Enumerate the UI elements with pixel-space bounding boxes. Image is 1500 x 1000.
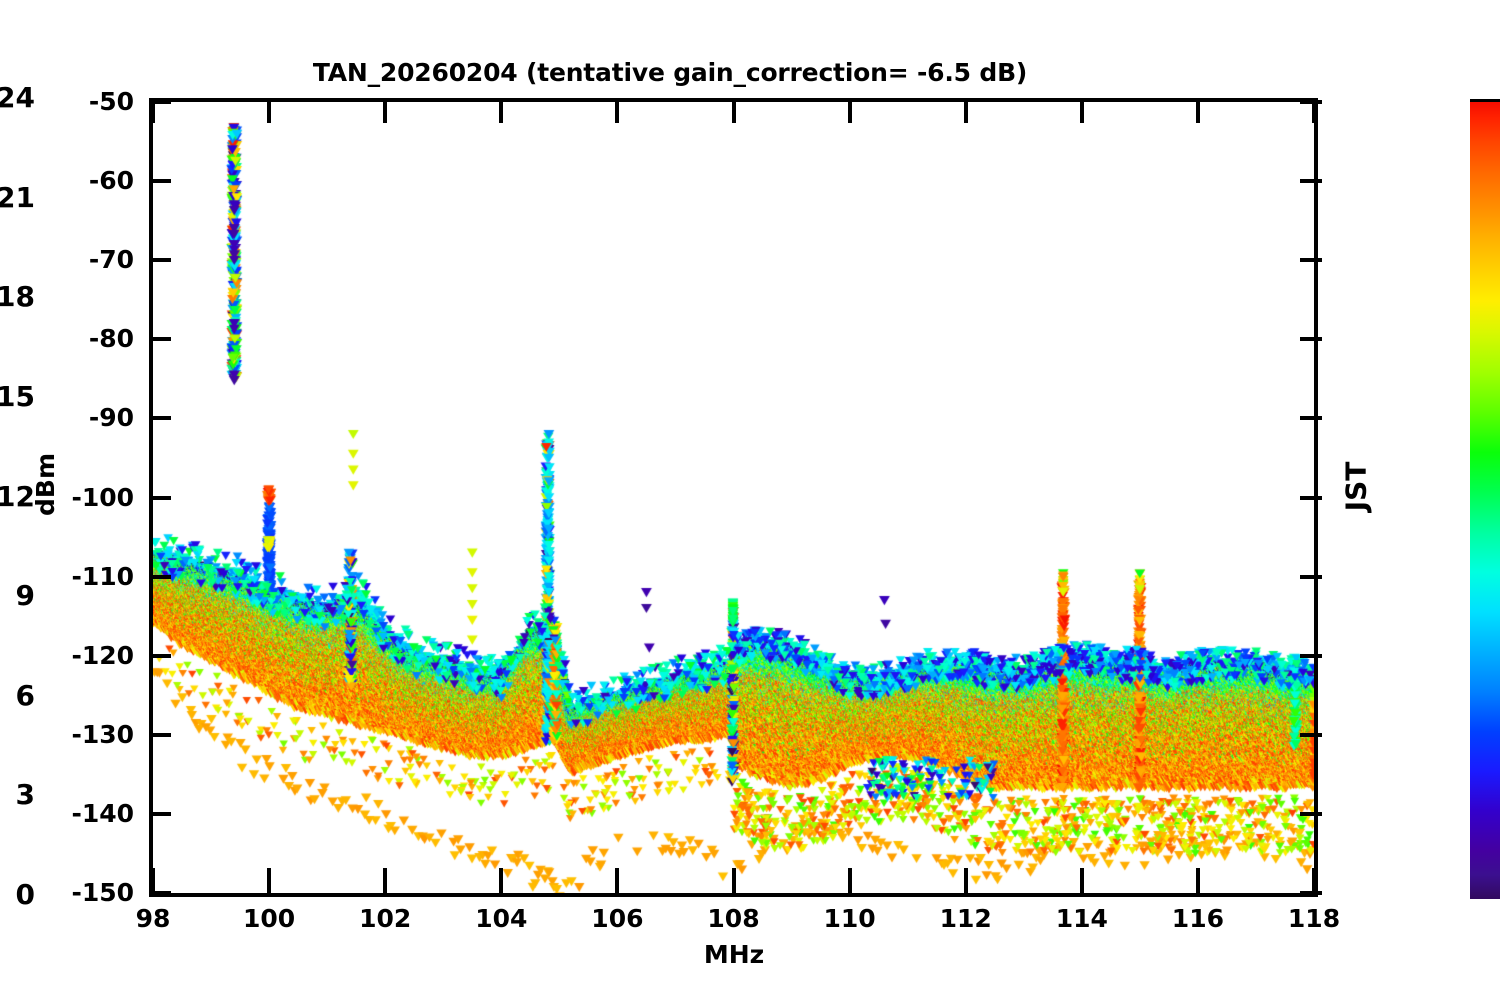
x-tick-label: 108	[674, 906, 794, 931]
x-tick-label: 116	[1138, 906, 1258, 931]
x-tick-118	[1312, 868, 1316, 893]
y-tick-neg90	[149, 416, 171, 420]
y-tick-neg80	[149, 337, 171, 341]
x-tick-112	[964, 868, 968, 893]
x-tick-110	[848, 98, 852, 123]
colorbar-tick-label: 9	[0, 582, 35, 610]
x-tick-label: 112	[906, 906, 1026, 931]
x-tick-label: 98	[93, 906, 213, 931]
y-tick-neg140	[1300, 812, 1322, 816]
x-tick-112	[964, 98, 968, 123]
colorbar-tick-label: 0	[0, 881, 35, 909]
x-tick-label: 110	[790, 906, 910, 931]
x-tick-100	[267, 868, 271, 893]
x-tick-label: 106	[557, 906, 677, 931]
y-tick-neg120	[149, 654, 171, 658]
y-tick-neg80	[1300, 337, 1322, 341]
y-tick-neg100	[1300, 496, 1322, 500]
y-tick-neg70	[1300, 258, 1322, 262]
x-tick-118	[1312, 98, 1316, 123]
y-tick-neg110	[149, 575, 171, 579]
x-tick-label: 114	[1022, 906, 1142, 931]
x-tick-114	[1080, 868, 1084, 893]
y-tick-neg130	[149, 733, 171, 737]
x-tick-108	[732, 868, 736, 893]
spectrum-plot-figure: TAN_20260204 (tentative gain_correction=…	[0, 0, 1500, 1000]
y-tick-neg90	[1300, 416, 1322, 420]
colorbar-tick-label: 24	[0, 84, 35, 112]
x-tick-label: 104	[441, 906, 561, 931]
x-tick-106	[615, 98, 619, 123]
x-tick-label: 118	[1254, 906, 1374, 931]
x-tick-label: 102	[325, 906, 445, 931]
colorbar-gradient	[1470, 99, 1500, 899]
y-tick-neg60	[1300, 179, 1322, 183]
x-tick-106	[615, 868, 619, 893]
colorbar-tick-label: 12	[0, 483, 35, 511]
colorbar-tick-label: 6	[0, 682, 35, 710]
y-tick-label: -70	[14, 247, 134, 272]
page-title: TAN_20260204 (tentative gain_correction=…	[0, 58, 1340, 87]
colorbar-tick-label: 3	[0, 781, 35, 809]
x-tick-label: 100	[209, 906, 329, 931]
colorbar-tick-label: 18	[0, 283, 35, 311]
y-tick-neg50	[1300, 100, 1322, 104]
spectrum-scatter-canvas	[153, 102, 1314, 893]
colorbar-tick-label: 15	[0, 383, 35, 411]
y-tick-neg140	[149, 812, 171, 816]
x-tick-116	[1196, 868, 1200, 893]
plot-area	[149, 98, 1318, 897]
x-tick-116	[1196, 98, 1200, 123]
y-tick-label: -120	[14, 643, 134, 668]
y-tick-neg150	[1300, 891, 1322, 895]
y-tick-label: -130	[14, 722, 134, 747]
x-tick-100	[267, 98, 271, 123]
x-tick-102	[383, 98, 387, 123]
colorbar-title: JST	[1339, 462, 1372, 512]
y-tick-neg120	[1300, 654, 1322, 658]
x-tick-98	[151, 98, 155, 123]
y-tick-neg100	[149, 496, 171, 500]
x-tick-102	[383, 868, 387, 893]
y-tick-neg60	[149, 179, 171, 183]
y-tick-neg70	[149, 258, 171, 262]
y-tick-neg110	[1300, 575, 1322, 579]
x-axis-label: MHz	[0, 940, 1468, 969]
x-tick-110	[848, 868, 852, 893]
x-tick-104	[499, 868, 503, 893]
x-tick-98	[151, 868, 155, 893]
colorbar-tick-label: 21	[0, 184, 35, 212]
y-tick-neg130	[1300, 733, 1322, 737]
x-tick-108	[732, 98, 736, 123]
x-tick-104	[499, 98, 503, 123]
x-tick-114	[1080, 98, 1084, 123]
y-tick-label: -80	[14, 326, 134, 351]
